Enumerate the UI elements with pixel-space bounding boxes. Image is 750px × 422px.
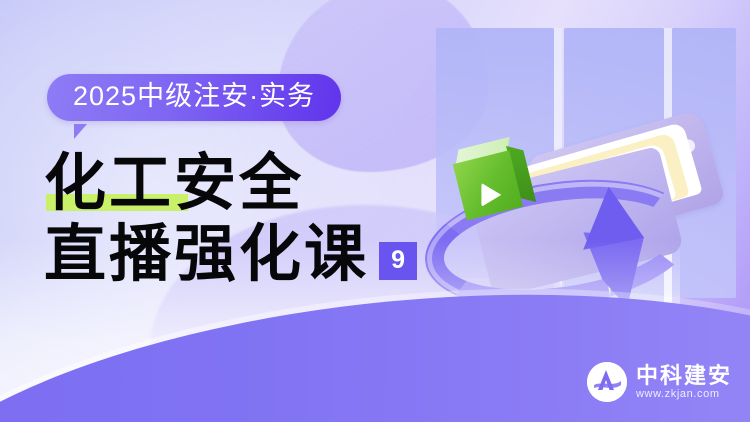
title-block: 化工安全 直播强化课 9 xyxy=(44,150,417,288)
title-line-2-wrapper: 直播强化课 9 xyxy=(44,221,417,288)
badge-tail-pointer xyxy=(74,124,87,139)
title-line-1-wrapper: 化工安全 xyxy=(44,150,304,217)
brand-name: 中科建安 xyxy=(636,365,732,387)
brand-logo: 中科建安 www.zkjan.com xyxy=(587,362,732,402)
course-banner: 2025中级注安·实务 化工安全 直播强化课 9 中科建安 www.zkjan.… xyxy=(0,0,750,422)
play-triangle-icon xyxy=(481,183,501,207)
episode-number-badge: 9 xyxy=(379,242,417,280)
brand-website-url: www.zkjan.com xyxy=(636,389,732,400)
page-title-line-1: 化工安全 xyxy=(44,150,304,217)
page-title-line-2: 直播强化课 xyxy=(44,221,369,288)
mountain-peak-circle-icon xyxy=(587,362,627,402)
course-category-badge: 2025中级注安·实务 xyxy=(47,74,341,121)
brand-logo-text: 中科建安 www.zkjan.com xyxy=(636,365,732,400)
